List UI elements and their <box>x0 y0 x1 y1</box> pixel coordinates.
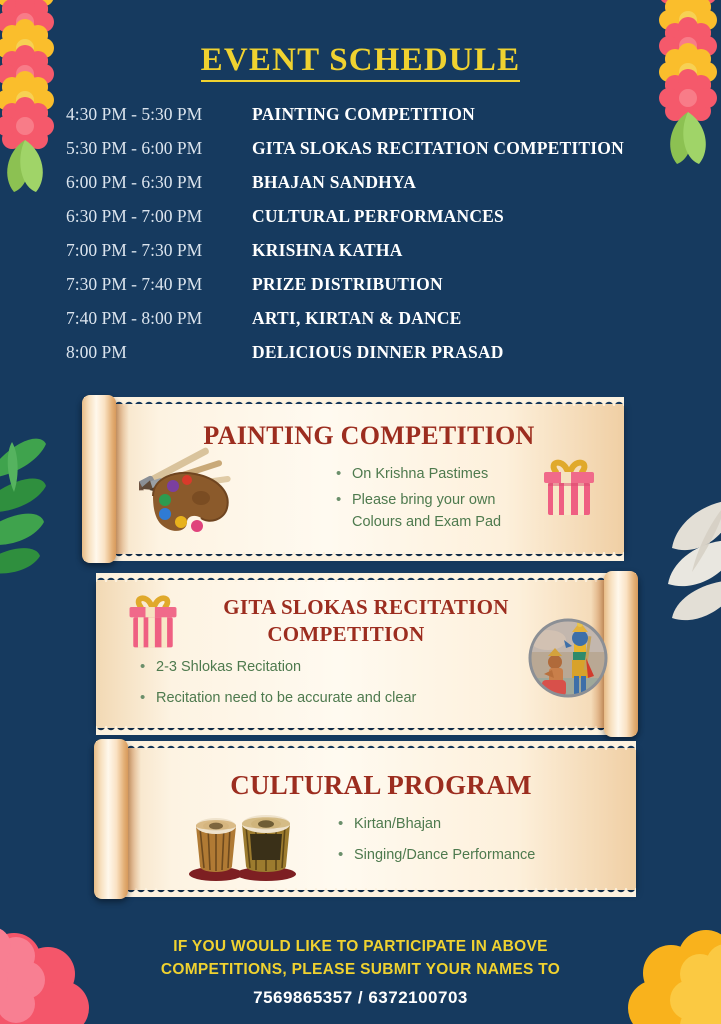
flower-garland-top-left-icon <box>0 0 54 192</box>
schedule-row: 4:30 PM - 5:30 PM PAINTING COMPETITION <box>66 104 681 138</box>
footer: IF YOU WOULD LIKE TO PARTICIPATE IN ABOV… <box>0 936 721 1008</box>
schedule-time: 6:00 PM - 6:30 PM <box>66 172 252 193</box>
schedule-event: KRISHNA KATHA <box>252 240 403 261</box>
schedule-time: 6:30 PM - 7:00 PM <box>66 206 252 227</box>
list-item: 2-3 Shlokas Recitation <box>138 657 468 679</box>
banner-heading-line1: GITA SLOKAS RECITATION <box>176 595 556 620</box>
footer-line-1: IF YOU WOULD LIKE TO PARTICIPATE IN ABOV… <box>0 936 721 958</box>
list-item: Kirtan/Bhajan <box>336 814 586 836</box>
list-item: Recitation need to be accurate and clear <box>138 688 468 710</box>
schedule-time: 4:30 PM - 5:30 PM <box>66 104 252 125</box>
footer-line-2: COMPETITIONS, PLEASE SUBMIT YOUR NAMES T… <box>0 959 721 981</box>
schedule-event: PRIZE DISTRIBUTION <box>252 274 443 295</box>
banner-bullet-list: On Krishna Pastimes Please bring your ow… <box>334 464 534 537</box>
gift-box-icon <box>122 592 184 654</box>
schedule-event: DELICIOUS DINNER PRASAD <box>252 342 504 363</box>
page-title: EVENT SCHEDULE <box>0 42 721 79</box>
schedule-row: 8:00 PM DELICIOUS DINNER PRASAD <box>66 342 681 376</box>
schedule-row: 6:30 PM - 7:00 PM CULTURAL PERFORMANCES <box>66 206 681 240</box>
green-leaves-left-icon <box>0 439 46 574</box>
schedule-event: PAINTING COMPETITION <box>252 104 475 125</box>
white-feather-leaves-right-icon <box>668 500 721 620</box>
banner-painting-competition: PAINTING COMPETITION On Krishna Pastimes… <box>84 404 624 554</box>
banner-bullet-list: 2-3 Shlokas Recitation Recitation need t… <box>138 657 468 714</box>
contact-phone-numbers: 7569865357 / 6372100703 <box>0 988 721 1008</box>
banner-gita-slokas-recitation: GITA SLOKAS RECITATION COMPETITION 2-3 S… <box>96 580 636 728</box>
schedule-event: GITA SLOKAS RECITATION COMPETITION <box>252 138 624 159</box>
schedule-row: 7:30 PM - 7:40 PM PRIZE DISTRIBUTION <box>66 274 681 308</box>
schedule-row: 6:00 PM - 6:30 PM BHAJAN SANDHYA <box>66 172 681 206</box>
schedule-list: 4:30 PM - 5:30 PM PAINTING COMPETITION 5… <box>66 104 681 376</box>
schedule-time: 7:40 PM - 8:00 PM <box>66 308 252 329</box>
list-item: Singing/Dance Performance <box>336 845 586 867</box>
list-item: On Krishna Pastimes <box>334 464 534 486</box>
schedule-time: 8:00 PM <box>66 342 252 363</box>
banner-heading-line2: COMPETITION <box>176 622 516 647</box>
schedule-time: 7:30 PM - 7:40 PM <box>66 274 252 295</box>
schedule-event: CULTURAL PERFORMANCES <box>252 206 504 227</box>
schedule-time: 5:30 PM - 6:00 PM <box>66 138 252 159</box>
banner-heading: PAINTING COMPETITION <box>154 421 584 451</box>
list-item: Please bring your own Colours and Exam P… <box>334 490 534 534</box>
banner-bullet-list: Kirtan/Bhajan Singing/Dance Performance <box>336 814 586 871</box>
schedule-row: 7:40 PM - 8:00 PM ARTI, KIRTAN & DANCE <box>66 308 681 342</box>
banner-heading: CULTURAL PROGRAM <box>166 770 596 801</box>
gift-box-icon <box>536 456 602 522</box>
schedule-row: 5:30 PM - 6:00 PM GITA SLOKAS RECITATION… <box>66 138 681 172</box>
krishna-arjuna-circle-image <box>528 618 608 698</box>
tabla-drums-icon <box>182 804 302 882</box>
schedule-time: 7:00 PM - 7:30 PM <box>66 240 252 261</box>
page-title-text: EVENT SCHEDULE <box>201 42 521 82</box>
schedule-row: 7:00 PM - 7:30 PM KRISHNA KATHA <box>66 240 681 274</box>
schedule-event: ARTI, KIRTAN & DANCE <box>252 308 462 329</box>
schedule-event: BHAJAN SANDHYA <box>252 172 416 193</box>
paint-palette-brushes-icon <box>139 442 259 542</box>
banner-cultural-program: CULTURAL PROGRAM Kirtan/Bhajan Singing/D… <box>96 748 636 890</box>
event-schedule-poster: EVENT SCHEDULE 4:30 PM - 5:30 PM PAINTIN… <box>0 0 721 1024</box>
